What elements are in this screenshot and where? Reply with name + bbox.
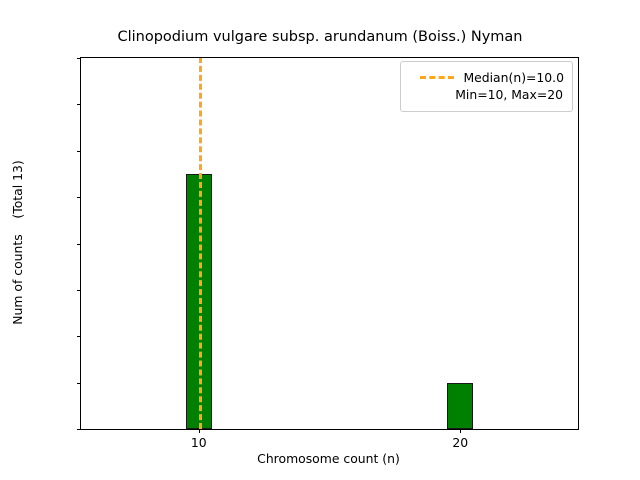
x-tick-label: 10: [169, 436, 229, 449]
page-title: Clinopodium vulgare subsp. arundanum (Bo…: [0, 28, 640, 46]
y-tick-mark: [77, 104, 81, 105]
y-axis-label: Num of counts (Total 13): [9, 57, 27, 428]
dashed-line-icon: [419, 71, 455, 85]
y-tick-mark: [77, 58, 81, 59]
y-tick-mark: [77, 336, 81, 337]
plot-area: 02468101214161020: [80, 57, 579, 430]
y-tick-mark: [77, 151, 81, 152]
y-tick-mark: [77, 383, 81, 384]
x-tick-mark: [460, 429, 461, 433]
bar: [447, 383, 473, 429]
x-axis-label: Chromosome count (n): [80, 452, 577, 466]
y-tick-mark: [77, 290, 81, 291]
legend: Median(n)=10.0 Min=10, Max=20: [400, 61, 573, 112]
x-tick-mark: [199, 429, 200, 433]
y-tick-mark: [77, 429, 81, 430]
median-line: [199, 58, 202, 429]
legend-label-median: Median(n)=10.0: [463, 69, 564, 86]
x-tick-label: 20: [430, 436, 490, 449]
y-tick-mark: [77, 244, 81, 245]
chart-figure: Clinopodium vulgare subsp. arundanum (Bo…: [0, 0, 640, 480]
legend-item-minmax: Min=10, Max=20: [409, 86, 564, 103]
legend-item-median: Median(n)=10.0: [409, 69, 564, 86]
y-tick-mark: [77, 197, 81, 198]
legend-label-minmax: Min=10, Max=20: [455, 86, 563, 103]
plot-inner: [81, 58, 578, 429]
